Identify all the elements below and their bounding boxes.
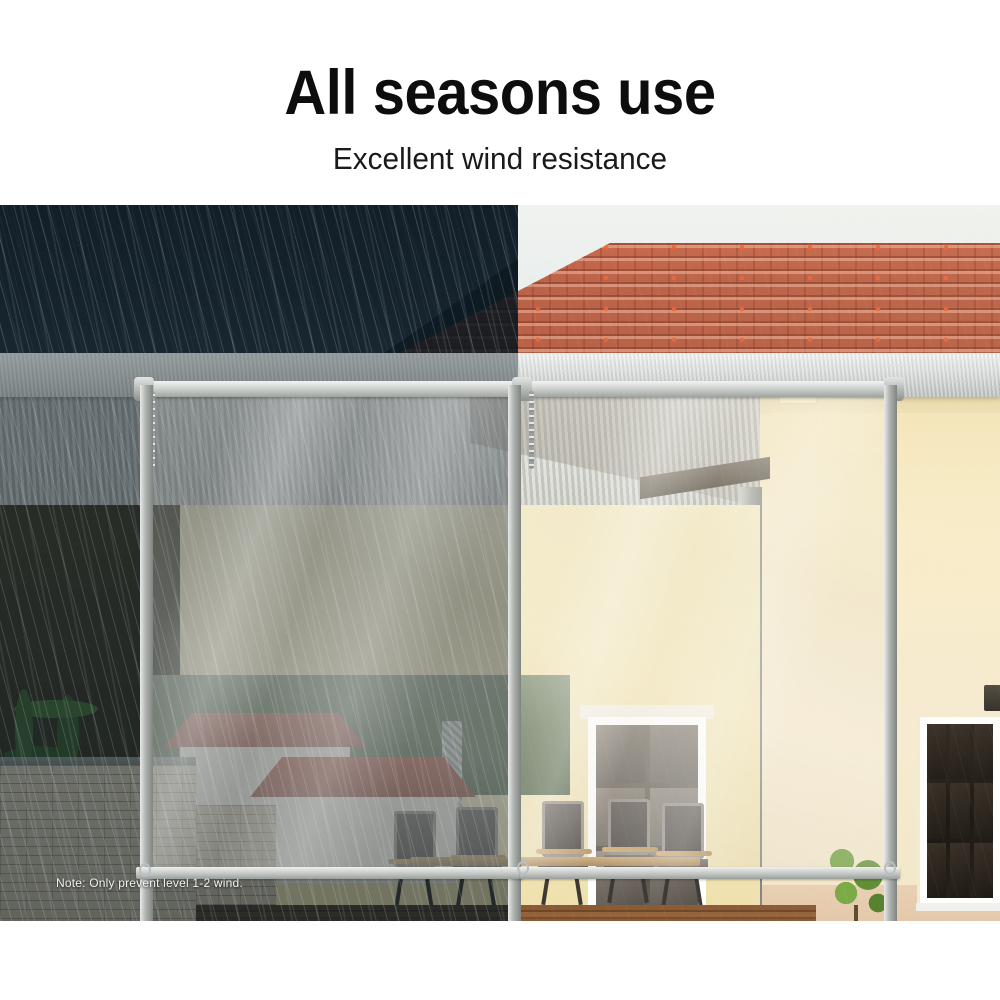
blind-tie-loop bbox=[139, 863, 151, 877]
blind-pull-chain bbox=[529, 391, 534, 469]
french-door-sill bbox=[916, 903, 1000, 911]
blind-sheen bbox=[140, 397, 520, 875]
blind-bottom-bar-right bbox=[520, 867, 900, 879]
wall-lamp-icon bbox=[984, 685, 1000, 711]
roller-blind-right bbox=[520, 397, 895, 875]
blind-side-rail bbox=[140, 385, 153, 921]
bottom-white-margin bbox=[0, 921, 1000, 1000]
roller-blind-left bbox=[140, 397, 520, 875]
french-door bbox=[920, 717, 1000, 905]
product-marketing-image: All seasons use Excellent wind resistanc… bbox=[0, 0, 1000, 1000]
page-subtitle: Excellent wind resistance bbox=[20, 142, 980, 176]
blind-side-rail bbox=[508, 385, 521, 921]
timber-deck-shadow bbox=[196, 905, 518, 921]
blind-sheen bbox=[520, 397, 895, 875]
blind-roller-tube-right bbox=[520, 381, 895, 397]
wind-note: Note: Only prevent level 1-2 wind. bbox=[56, 876, 243, 890]
blind-side-rail bbox=[884, 385, 897, 921]
blind-tie-loop bbox=[884, 861, 896, 875]
page-title: All seasons use bbox=[40, 62, 960, 125]
french-door-glass bbox=[927, 724, 993, 898]
heading-block: All seasons use Excellent wind resistanc… bbox=[0, 0, 1000, 205]
product-photo: Note: Only prevent level 1-2 wind. bbox=[0, 205, 1000, 921]
blind-tie-loop bbox=[517, 861, 529, 875]
blind-roller-tube-left bbox=[140, 381, 520, 397]
